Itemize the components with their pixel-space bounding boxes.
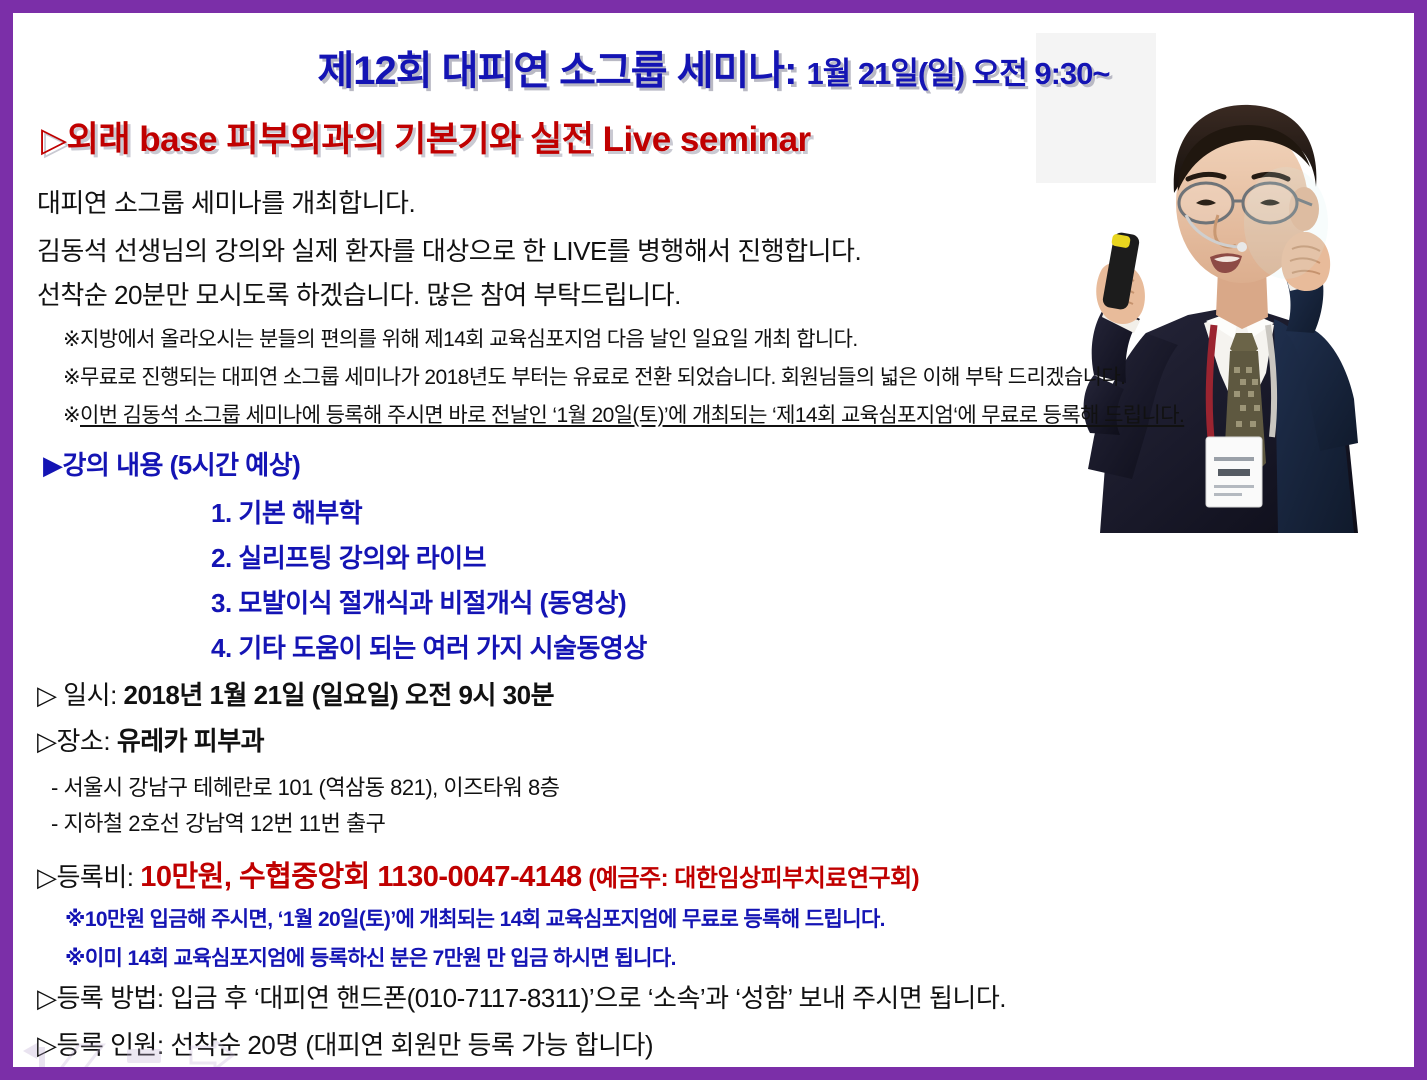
curriculum-item-2: 2. 실리프팅 강의와 라이브	[211, 538, 486, 575]
fee-note-1: ※10만원 입금해 주시면, ‘1월 20일(토)’에 개최되는 14회 교육심…	[65, 903, 885, 933]
fee-label: 등록비:	[57, 862, 134, 892]
fee-account-holder: (예금주: 대한임상피부치료연구회)	[588, 865, 919, 892]
seminar-poster: 제12회 대피연 소그룹 세미나: 1월 21일(일) 오전 9:30~ ▷외래…	[0, 0, 1427, 1080]
subtitle-text: 외래 base 피부외과의 기본기와 실전 Live seminar	[67, 120, 811, 159]
place-label: 장소:	[57, 726, 111, 756]
registration-method-row: ▷등록 방법: 입금 후 ‘대피연 핸드폰(010-7117-8311)’으로 …	[37, 978, 1006, 1015]
triangle-outline-icon: ▷	[41, 121, 67, 159]
curriculum-item-3: 3. 모발이식 절개식과 비절개식 (동영상)	[211, 583, 626, 620]
triangle-outline-icon-method: ▷	[37, 983, 57, 1013]
fee-row: ▷등록비: 10만원, 수협중앙회 1130-0047-4148 (예금주: 대…	[37, 853, 919, 895]
place-value: 유레카 피부과	[117, 726, 264, 756]
notice-line-3: ※이번 김동석 소그룹 세미나에 등록해 주시면 바로 전날인 ‘1월 20일(…	[63, 399, 1184, 429]
triangle-outline-icon-capacity: ▷	[37, 1030, 57, 1060]
fee-amount-bank: 10만원, 수협중앙회 1130-0047-4148	[140, 861, 581, 893]
curriculum-heading-text: 강의 내용 (5시간 예상)	[63, 450, 301, 480]
notice-mark-1: ※	[63, 328, 80, 351]
speaker-photo-illustration	[1028, 33, 1414, 533]
fee-note-2: ※이미 14회 교육심포지엄에 등록하신 분은 7만원 만 입금 하시면 됩니다…	[65, 942, 676, 972]
intro-line-2: 김동석 선생님의 강의와 실제 환자를 대상으로 한 LIVE를 병행해서 진행…	[37, 231, 861, 268]
notice-line-1: ※지방에서 올라오시는 분들의 편의를 위해 제14회 교육심포지엄 다음 날인…	[63, 323, 858, 353]
datetime-value: 2018년 1월 21일 (일요일) 오전 9시 30분	[124, 680, 554, 710]
datetime-row: ▷ 일시: 2018년 1월 21일 (일요일) 오전 9시 30분	[37, 675, 554, 712]
notice-text-2: 무료로 진행되는 대피연 소그룹 세미나가 2018년도 부터는 유료로 전환 …	[80, 366, 1125, 389]
speaker-photo	[1028, 33, 1414, 533]
triangle-outline-icon-fee: ▷	[37, 862, 57, 892]
address-line-2: - 지하철 2호선 강남역 12번 11번 출구	[51, 806, 385, 838]
registration-capacity-text: 등록 인원: 선착순 20명 (대피연 회원만 등록 가능 합니다)	[57, 1030, 654, 1060]
registration-method-text: 등록 방법: 입금 후 ‘대피연 핸드폰(010-7117-8311)’으로 ‘…	[57, 983, 1006, 1013]
place-row: ▷장소: 유레카 피부과	[37, 721, 264, 758]
curriculum-item-1: 1. 기본 해부학	[211, 493, 362, 530]
subtitle: ▷외래 base 피부외과의 기본기와 실전 Live seminar	[41, 111, 811, 162]
registration-capacity-row: ▷등록 인원: 선착순 20명 (대피연 회원만 등록 가능 합니다)	[37, 1025, 653, 1062]
notice-mark-3: ※	[63, 404, 80, 427]
notice-mark-2: ※	[63, 366, 80, 389]
poster-canvas: 제12회 대피연 소그룹 세미나: 1월 21일(일) 오전 9:30~ ▷외래…	[13, 13, 1414, 1067]
notice-text-1: 지방에서 올라오시는 분들의 편의를 위해 제14회 교육심포지엄 다음 날인 …	[80, 328, 858, 351]
intro-line-1: 대피연 소그룹 세미나를 개최합니다.	[37, 183, 415, 220]
notice-text-3: 이번 김동석 소그룹 세미나에 등록해 주시면 바로 전날인 ‘1월 20일(토…	[80, 404, 1184, 427]
curriculum-heading: ▶강의 내용 (5시간 예상)	[43, 445, 300, 482]
address-line-1: - 서울시 강남구 테헤란로 101 (역삼동 821), 이즈타워 8층	[51, 770, 559, 802]
triangle-filled-icon: ▶	[43, 450, 63, 480]
curriculum-item-4: 4. 기타 도움이 되는 여러 가지 시술동영상	[211, 628, 647, 665]
title-date-text: 1월 21일(일) 오전 9:30~	[807, 56, 1110, 91]
title-main-text: 제12회 대피연 소그룹 세미나:	[317, 49, 796, 93]
triangle-outline-icon-place: ▷	[37, 726, 57, 756]
notice-line-2: ※무료로 진행되는 대피연 소그룹 세미나가 2018년도 부터는 유료로 전환…	[63, 361, 1125, 391]
intro-line-3: 선착순 20분만 모시도록 하겠습니다. 많은 참여 부탁드립니다.	[37, 275, 681, 312]
poster-frame: 제12회 대피연 소그룹 세미나: 1월 21일(일) 오전 9:30~ ▷외래…	[10, 10, 1417, 1070]
datetime-label: 일시:	[63, 680, 117, 710]
page-title: 제12회 대피연 소그룹 세미나: 1월 21일(일) 오전 9:30~	[13, 38, 1414, 96]
triangle-outline-icon-datetime: ▷	[37, 680, 57, 710]
